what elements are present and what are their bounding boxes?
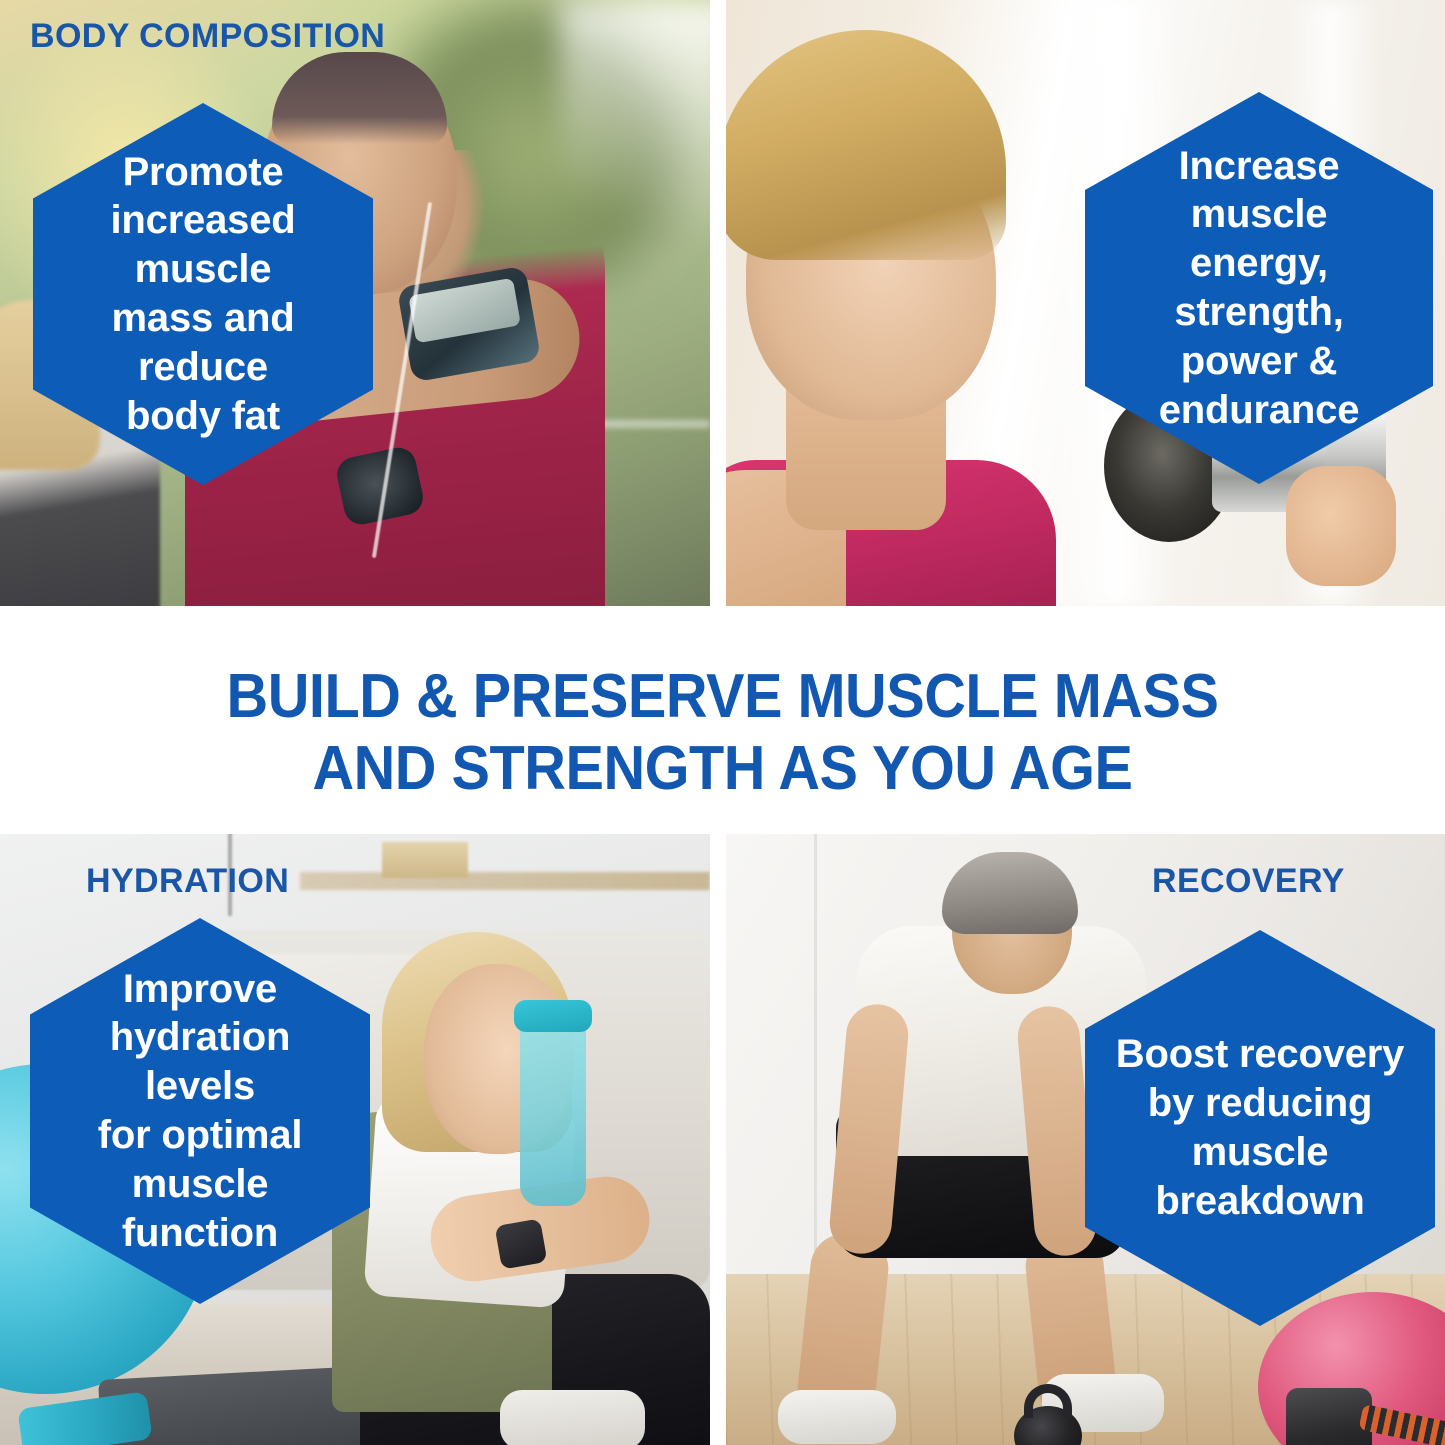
section-title-recovery: RECOVERY: [1152, 862, 1345, 901]
woman-hair: [726, 30, 1006, 260]
woman-hand: [1286, 466, 1396, 586]
headline-line-2: AND STRENGTH AS YOU AGE: [312, 733, 1132, 805]
wall-corner: [814, 834, 817, 1286]
weight-plates: [1286, 1388, 1372, 1445]
section-title-hydration: HYDRATION: [86, 862, 289, 901]
hexagon-text-hydration: Improve hydration levels for optimal mus…: [60, 965, 340, 1258]
section-title-body-composition: BODY COMPOSITION: [30, 17, 385, 56]
water-bottle: [520, 1016, 586, 1206]
shelf-box: [382, 842, 468, 878]
infographic-root: BODY COMPOSITION Promote increased muscl…: [0, 0, 1445, 1445]
headline-line-1: BUILD & PRESERVE MUSCLE MASS: [227, 661, 1219, 733]
panel-recovery: RECOVERY Boost recovery by reducing musc…: [726, 834, 1445, 1445]
hexagon-text-performance: Increase muscle energy, strength, power …: [1115, 142, 1403, 435]
wall-shelf: [300, 872, 710, 890]
armband-screen: [408, 278, 521, 344]
panel-performance: PERFORMANCE Increase muscle energy, stre…: [726, 0, 1445, 606]
hexagon-text-body-composition: Promote increased muscle mass and reduce…: [63, 148, 343, 441]
water-bottle-cap: [514, 1000, 592, 1032]
man-shoe-left: [778, 1390, 896, 1444]
hexagon-text-recovery: Boost recovery by reducing muscle breakd…: [1116, 1030, 1404, 1225]
fitness-tracker: [495, 1218, 548, 1269]
panel-hydration: HYDRATION Improve hydration levels for o…: [0, 834, 710, 1445]
main-headline: BUILD & PRESERVE MUSCLE MASS AND STRENGT…: [51, 648, 1395, 818]
sneaker: [500, 1390, 645, 1445]
panel-body-composition: BODY COMPOSITION Promote increased muscl…: [0, 0, 710, 606]
